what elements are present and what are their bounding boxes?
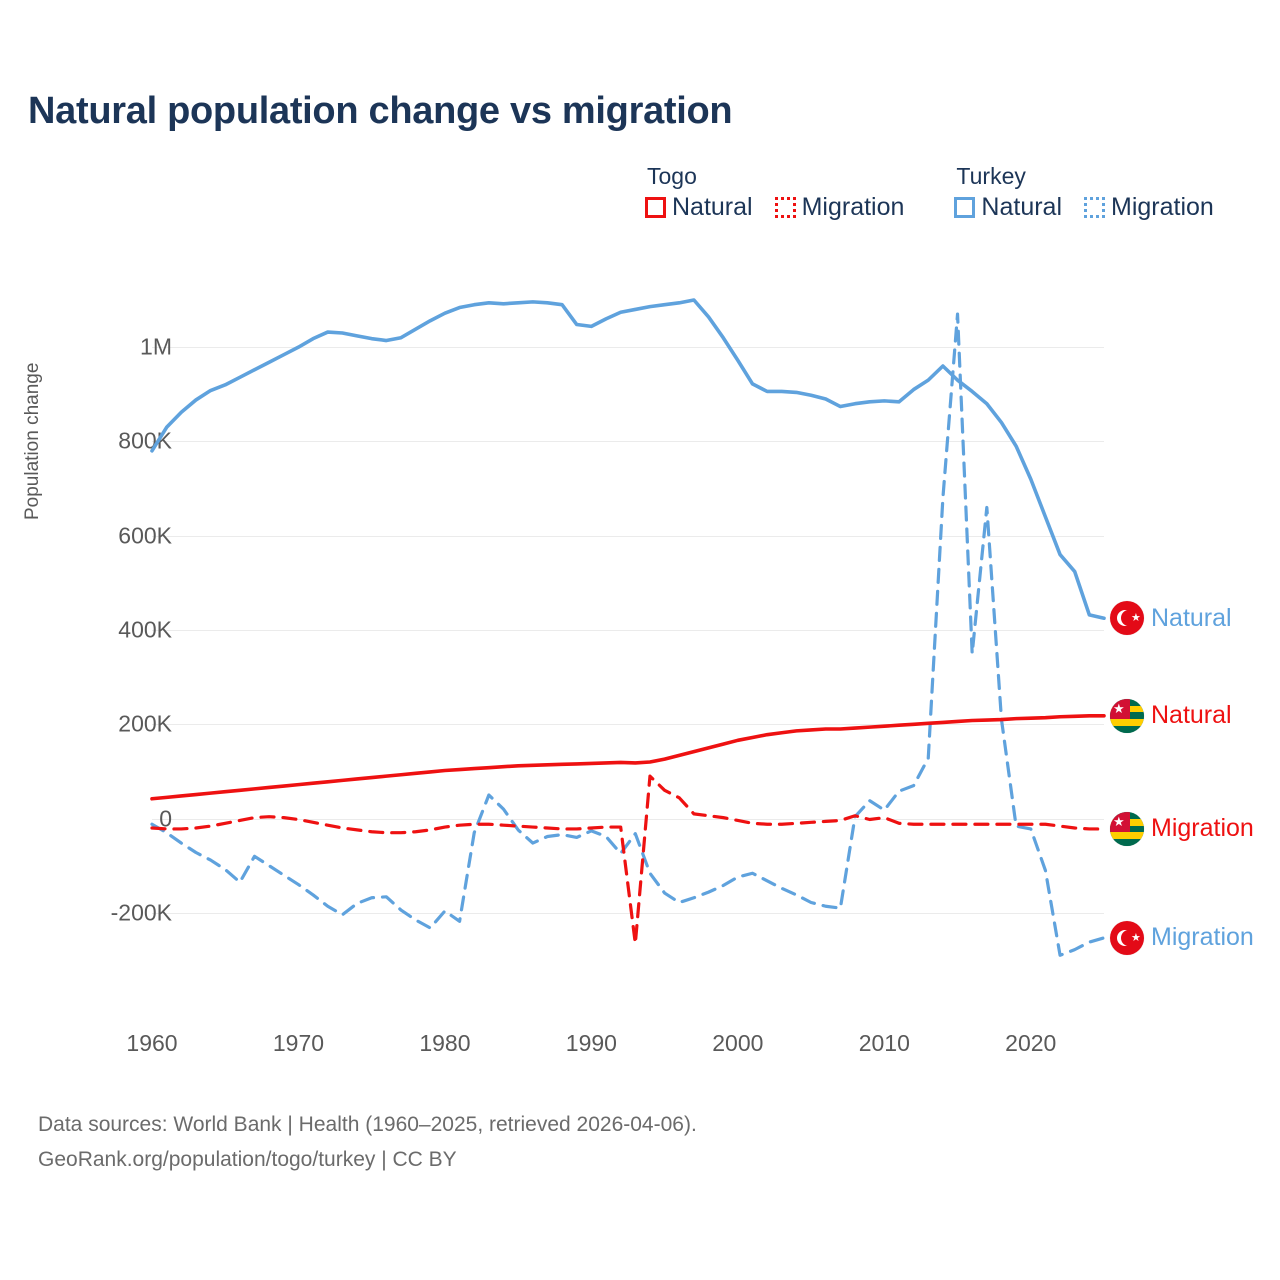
legend-item-turkey-migration[interactable]: Migration — [1084, 195, 1214, 220]
legend-group-turkey: Turkey Natural Migration — [954, 163, 1213, 220]
series-line-togo-migration — [152, 776, 1104, 943]
legend-label-togo-migration: Migration — [802, 195, 905, 220]
legend-country-turkey: Turkey — [954, 163, 1213, 191]
turkey-flag-icon: ★ — [1110, 921, 1144, 955]
togo-flag-icon: ★ — [1110, 699, 1144, 733]
footer-line-1: Data sources: World Bank | Health (1960–… — [38, 1108, 697, 1143]
footer-line-2: GeoRank.org/population/togo/turkey | CC … — [38, 1143, 697, 1178]
end-label-text: Natural — [1151, 703, 1232, 728]
plot-area — [152, 300, 1104, 960]
turkey-flag-icon: ★ — [1110, 601, 1144, 635]
end-label-migration[interactable]: ★Migration — [1110, 921, 1254, 955]
legend-label-turkey-migration: Migration — [1111, 195, 1214, 220]
page-title: Natural population change vs migration — [28, 90, 732, 133]
legend-item-togo-natural[interactable]: Natural — [645, 195, 753, 220]
end-label-natural[interactable]: ★Natural — [1110, 699, 1232, 733]
legend-row-togo: Natural Migration — [645, 195, 904, 220]
legend-label-turkey-natural: Natural — [981, 195, 1062, 220]
end-label-natural[interactable]: ★Natural — [1110, 601, 1232, 635]
x-axis-tick-label: 1980 — [419, 1030, 470, 1057]
series-lines — [152, 300, 1104, 960]
end-label-text: Migration — [1151, 925, 1254, 950]
legend-country-togo: Togo — [645, 163, 904, 191]
dotted-square-outline-icon — [1084, 197, 1105, 218]
footer-credits: Data sources: World Bank | Health (1960–… — [38, 1108, 697, 1177]
x-axis-tick-label: 2020 — [1005, 1030, 1056, 1057]
end-label-migration[interactable]: ★Migration — [1110, 812, 1254, 846]
end-label-text: Migration — [1151, 816, 1254, 841]
solid-square-outline-icon — [645, 197, 666, 218]
x-axis-tick-label: 1990 — [566, 1030, 617, 1057]
legend-item-togo-migration[interactable]: Migration — [775, 195, 905, 220]
series-line-turkey-migration — [152, 314, 1104, 955]
series-line-turkey-natural — [152, 300, 1104, 618]
end-label-text: Natural — [1151, 606, 1232, 631]
chart-root: Natural population change vs migration T… — [0, 0, 1280, 1280]
x-axis-tick-label: 1960 — [126, 1030, 177, 1057]
series-line-togo-natural — [152, 716, 1104, 799]
legend-row-turkey: Natural Migration — [954, 195, 1213, 220]
legend-group-togo: Togo Natural Migration — [645, 163, 904, 220]
legend-item-turkey-natural[interactable]: Natural — [954, 195, 1062, 220]
y-axis-title: Population change — [22, 280, 44, 520]
legend-label-togo-natural: Natural — [672, 195, 753, 220]
chart-legend: Togo Natural Migration Turkey Natural — [645, 163, 1214, 220]
x-axis-tick-label: 1970 — [273, 1030, 324, 1057]
togo-flag-icon: ★ — [1110, 812, 1144, 846]
x-axis-tick-label: 2010 — [859, 1030, 910, 1057]
solid-square-outline-icon — [954, 197, 975, 218]
x-axis-tick-label: 2000 — [712, 1030, 763, 1057]
dotted-square-outline-icon — [775, 197, 796, 218]
